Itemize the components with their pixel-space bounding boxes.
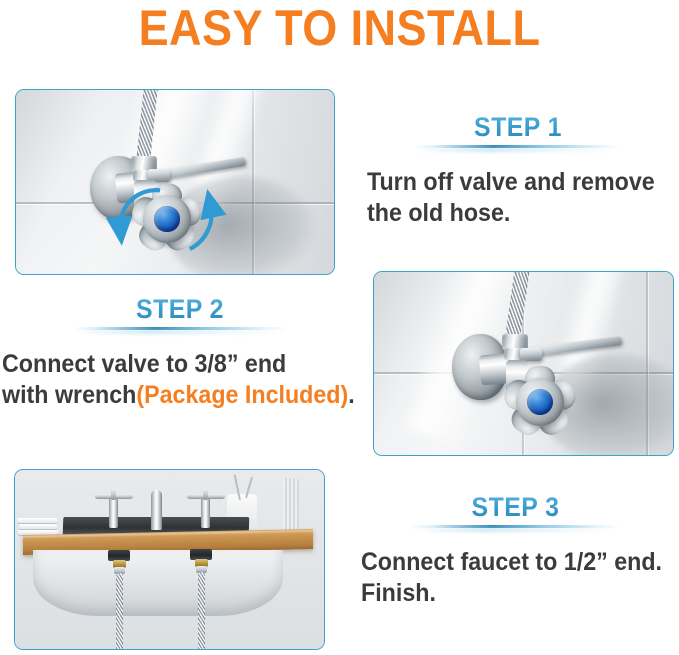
blue-handle-cap bbox=[154, 206, 179, 231]
braided-hose-right bbox=[198, 572, 205, 649]
step-2-package-included-highlight: (Package Included) bbox=[136, 381, 348, 409]
faucet-spout bbox=[151, 490, 162, 530]
braided-hose-left bbox=[116, 573, 123, 649]
faucet-cross-handle-right bbox=[203, 488, 208, 500]
infographic-page: EASY TO INSTALL bbox=[0, 0, 679, 655]
faucet-handle-stem-right bbox=[201, 498, 210, 528]
step-1-block: STEP 1 Turn off valve and remove the old… bbox=[358, 112, 678, 229]
step-1-label: STEP 1 bbox=[371, 112, 665, 142]
step-2-body-line-1: Connect valve to 3/8” end bbox=[2, 349, 335, 380]
step-2-block: STEP 2 Connect valve to 3/8” end with wr… bbox=[0, 294, 360, 411]
step-3-body-line-1: Connect faucet to 1/2” end. bbox=[361, 547, 657, 578]
step-3-underline-glow bbox=[411, 528, 621, 532]
step-2-body-line-2: with wrench(Package Included). bbox=[2, 380, 335, 411]
blue-handle-cap bbox=[527, 389, 553, 415]
step-1-photo bbox=[15, 89, 335, 275]
step-3-label: STEP 3 bbox=[365, 492, 666, 522]
valve-handwheel bbox=[134, 186, 200, 252]
step-3-body-line-2: Finish. bbox=[361, 578, 657, 609]
decor-towel bbox=[283, 478, 299, 536]
step-2-body: Connect valve to 3/8” end with wrench(Pa… bbox=[2, 349, 335, 411]
valve-handwheel bbox=[506, 368, 574, 436]
sink-basin-underside bbox=[33, 550, 283, 616]
step-2-body-suffix: . bbox=[348, 381, 354, 409]
step-1-body: Turn off valve and remove the old hose. bbox=[367, 167, 656, 229]
step-2-label: STEP 2 bbox=[14, 294, 345, 324]
page-title: EASY TO INSTALL bbox=[34, 2, 645, 54]
step-1-body-line-1: Turn off valve and remove bbox=[367, 167, 656, 198]
step-3-body: Connect faucet to 1/2” end. Finish. bbox=[361, 547, 657, 609]
step-2-photo bbox=[373, 271, 674, 456]
step-2-body-prefix: with wrench bbox=[2, 381, 136, 409]
step-3-photo bbox=[14, 469, 325, 650]
step-3-block: STEP 3 Connect faucet to 1/2” end. Finis… bbox=[352, 492, 679, 609]
step-2-underline-glow bbox=[73, 330, 288, 334]
stacked-plates bbox=[19, 524, 57, 529]
stacked-plates bbox=[17, 518, 57, 523]
step-1-body-line-2: the old hose. bbox=[367, 198, 656, 229]
faucet-handle-stem-left bbox=[109, 498, 118, 528]
step-1-underline-glow bbox=[415, 148, 621, 152]
faucet-cross-handle-left bbox=[111, 488, 116, 500]
